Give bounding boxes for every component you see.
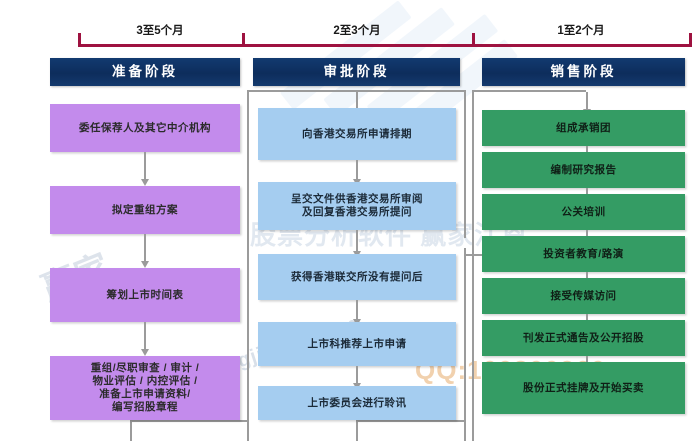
arrow-prep-2-3 xyxy=(144,322,146,350)
node-sales-1-label: 编制研究报告 xyxy=(551,164,617,177)
node-approval-4[interactable]: 上市委员会进行聆讯 xyxy=(258,386,456,420)
phase-header-approval[interactable]: 审批阶段 xyxy=(253,58,460,86)
prep-bottom-riser xyxy=(130,420,132,441)
node-sales-3[interactable]: 投资者教育/路演 xyxy=(482,236,685,272)
phase-header-sales[interactable]: 销售阶段 xyxy=(482,58,685,86)
prep-bottom-connector xyxy=(130,420,248,422)
flowchart-canvas: 赢家 www.yingjia360.com QQ:100800360 股票分析软… xyxy=(0,0,693,441)
node-sales-5[interactable]: 刊发正式通告及公开招股 xyxy=(482,320,685,356)
node-approval-4-label: 上市委员会进行聆讯 xyxy=(308,397,407,410)
approval-frame-top-right xyxy=(356,90,466,92)
node-sales-4-label: 接受传媒访问 xyxy=(551,290,617,303)
approval-to-sales-arrow xyxy=(466,254,482,256)
timeline-axis xyxy=(78,44,692,47)
node-sales-1[interactable]: 编制研究报告 xyxy=(482,152,685,188)
node-approval-3-label: 上市科推荐上市申请 xyxy=(308,338,407,351)
node-approval-1-label: 呈交文件供香港交易所审阅 及回复香港交易所提问 xyxy=(291,193,423,219)
node-prep-0-label: 委任保荐人及其它中介机构 xyxy=(79,122,211,135)
node-prep-3[interactable]: 重组/尽职审查 / 审计 / 物业评估 / 内控评估 / 准备上市申请资料/ 编… xyxy=(50,356,240,420)
timeline-label-approval: 2至3个月 xyxy=(242,22,472,38)
arrow-approval-1-2 xyxy=(356,230,358,252)
approval-frame-right-upper xyxy=(464,90,466,238)
node-prep-3-label: 重组/尽职审查 / 审计 / 物业评估 / 内控评估 / 准备上市申请资料/ 编… xyxy=(91,362,200,414)
node-prep-2-label: 筹划上市时间表 xyxy=(107,289,184,302)
sales-frame-left xyxy=(472,90,474,441)
node-sales-3-label: 投资者教育/路演 xyxy=(543,248,623,261)
node-prep-0[interactable]: 委任保荐人及其它中介机构 xyxy=(50,104,240,152)
arrow-approval-0-1 xyxy=(356,160,358,180)
arrow-approval-2-3 xyxy=(356,300,358,320)
node-approval-2[interactable]: 获得香港联交所没有提问后 xyxy=(258,254,456,300)
approval-frame-left xyxy=(247,90,249,441)
node-approval-1[interactable]: 呈交文件供香港交易所审阅 及回复香港交易所提问 xyxy=(258,182,456,230)
sales-frame-top xyxy=(472,90,586,92)
node-approval-0[interactable]: 向香港交易所申请排期 xyxy=(258,108,456,160)
node-approval-0-label: 向香港交易所申请排期 xyxy=(302,128,412,141)
node-sales-6-label: 股份正式挂牌及开始买卖 xyxy=(523,382,644,395)
approval-bottom-connector xyxy=(356,420,466,422)
node-prep-1-label: 拟定重组方案 xyxy=(112,204,178,217)
arrow-prep-1-2 xyxy=(144,234,146,262)
phase-header-prep[interactable]: 准备阶段 xyxy=(50,58,240,86)
timeline-label-sales: 1至2个月 xyxy=(472,22,690,38)
timeline-label-prep: 3至5个月 xyxy=(78,22,242,38)
node-approval-3[interactable]: 上市科推荐上市申请 xyxy=(258,322,456,366)
node-approval-2-label: 获得香港联交所没有提问后 xyxy=(291,271,423,284)
approval-bottom-riser xyxy=(356,420,358,441)
approval-frame-right-lower xyxy=(464,248,466,441)
arrow-approval-3-4 xyxy=(356,366,358,384)
approval-frame-top xyxy=(247,90,357,92)
node-sales-0[interactable]: 组成承销团 xyxy=(482,110,685,146)
node-prep-1[interactable]: 拟定重组方案 xyxy=(50,186,240,234)
arrow-into-sales-0 xyxy=(586,92,588,110)
node-prep-2[interactable]: 筹划上市时间表 xyxy=(50,268,240,322)
node-sales-0-label: 组成承销团 xyxy=(556,122,611,135)
node-sales-6[interactable]: 股份正式挂牌及开始买卖 xyxy=(482,362,685,414)
node-sales-4[interactable]: 接受传媒访问 xyxy=(482,278,685,314)
arrow-prep-0-1 xyxy=(144,152,146,180)
node-sales-5-label: 刊发正式通告及公开招股 xyxy=(523,332,644,345)
node-sales-2-label: 公关培训 xyxy=(562,206,606,219)
node-sales-2[interactable]: 公关培训 xyxy=(482,194,685,230)
